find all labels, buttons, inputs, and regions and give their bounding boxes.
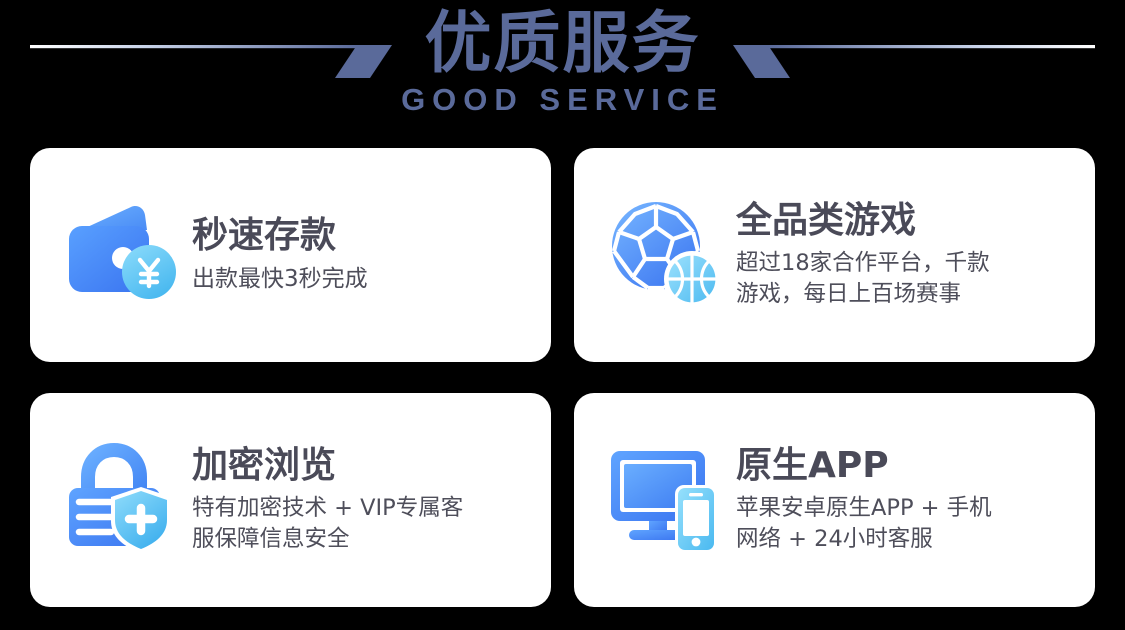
card-title: 原生APP bbox=[736, 444, 1075, 488]
card-subtitle: 出款最快3秒完成 bbox=[192, 263, 531, 296]
card-subtitle: 苹果安卓原生APP + 手机网络 + 24小时客服 bbox=[736, 493, 1075, 557]
header-title-block: 优质服务 GOOD SERVICE bbox=[243, 6, 883, 117]
feature-card-text: 全品类游戏 超过18家合作平台，千款游戏，每日上百场赛事 bbox=[736, 199, 1075, 312]
header: 优质服务 GOOD SERVICE bbox=[0, 0, 1125, 140]
feature-card-native-app[interactable]: 原生APP 苹果安卓原生APP + 手机网络 + 24小时客服 bbox=[574, 393, 1095, 607]
feature-card-text: 原生APP 苹果安卓原生APP + 手机网络 + 24小时客服 bbox=[736, 444, 1075, 557]
soccer-basketball-icon bbox=[602, 193, 726, 317]
feature-card-encryption[interactable]: 加密浏览 特有加密技术 + VIP专属客服保障信息安全 bbox=[30, 393, 551, 607]
feature-card-text: 秒速存款 出款最快3秒完成 bbox=[192, 214, 531, 296]
feature-card-games[interactable]: 全品类游戏 超过18家合作平台，千款游戏，每日上百场赛事 bbox=[574, 148, 1095, 362]
card-title: 秒速存款 bbox=[192, 214, 531, 258]
feature-card-grid: 秒速存款 出款最快3秒完成 bbox=[30, 148, 1095, 608]
feature-card-deposit[interactable]: 秒速存款 出款最快3秒完成 bbox=[30, 148, 551, 362]
card-subtitle: 特有加密技术 + VIP专属客服保障信息安全 bbox=[192, 493, 531, 557]
monitor-phone-icon bbox=[602, 438, 726, 562]
wallet-icon bbox=[58, 193, 182, 317]
promo-banner: 优质服务 GOOD SERVICE bbox=[0, 0, 1125, 630]
card-title: 全品类游戏 bbox=[736, 199, 1075, 243]
card-title: 加密浏览 bbox=[192, 444, 531, 488]
header-title-cn: 优质服务 bbox=[243, 6, 883, 81]
feature-card-text: 加密浏览 特有加密技术 + VIP专属客服保障信息安全 bbox=[192, 444, 531, 557]
lock-shield-icon bbox=[58, 438, 182, 562]
card-subtitle: 超过18家合作平台，千款游戏，每日上百场赛事 bbox=[736, 248, 1075, 312]
header-title-en: GOOD SERVICE bbox=[243, 83, 883, 117]
